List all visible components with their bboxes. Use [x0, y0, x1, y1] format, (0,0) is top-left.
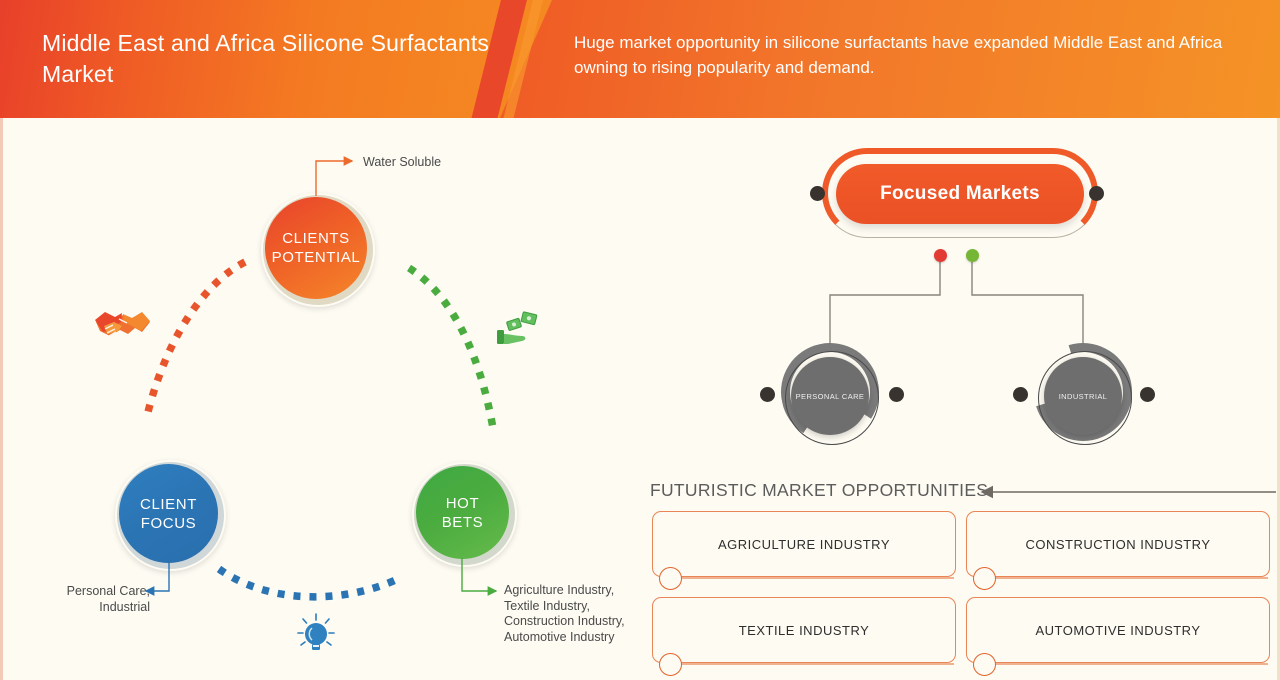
node-personal-care[interactable]: PERSONAL CARE	[791, 357, 869, 435]
node-client-focus-label: CLIENT FOCUS	[140, 495, 197, 533]
opportunity-knob-construction	[973, 567, 996, 590]
focused-markets-label: Focused Markets	[880, 183, 1040, 205]
page-title: Middle East and Africa Silicone Surfacta…	[42, 28, 512, 90]
opportunity-card-automotive[interactable]: AUTOMOTIVE INDUSTRY	[966, 597, 1270, 663]
money-in-hand-icon	[496, 306, 542, 352]
branch-dot-industrial	[966, 249, 979, 262]
personal-care-dot-right	[889, 387, 904, 402]
header-banner: Middle East and Africa Silicone Surfacta…	[0, 0, 1280, 118]
opportunity-card-construction[interactable]: CONSTRUCTION INDUSTRY	[966, 511, 1270, 577]
label-line-1: HOT	[446, 495, 479, 512]
opportunity-card-agriculture[interactable]: AGRICULTURE INDUSTRY	[652, 511, 956, 577]
opportunity-card-textile[interactable]: TEXTILE INDUSTRY	[652, 597, 956, 663]
opportunity-card-construction-label: CONSTRUCTION INDUSTRY	[1025, 537, 1210, 552]
node-hot-bets-label: HOT BETS	[442, 494, 484, 532]
header-subtitle: Huge market opportunity in silicone surf…	[574, 30, 1234, 80]
label-line-1: CLIENTS	[282, 230, 350, 247]
personal-care-dot-left	[760, 387, 775, 402]
node-clients-potential[interactable]: Water Soluble CLIENTS POTENTIAL	[265, 197, 367, 299]
callout-client-focus-line2: Industrial	[99, 600, 150, 614]
callout-hot-bets-line1: Agriculture Industry,	[504, 583, 614, 597]
personal-care-label: PERSONAL CARE	[796, 392, 865, 401]
node-industrial[interactable]: INDUSTRIAL	[1044, 357, 1122, 435]
industrial-dot-right	[1140, 387, 1155, 402]
callout-hot-bets-line3: Construction Industry,	[504, 614, 625, 628]
handshake-icon	[92, 298, 154, 348]
opportunity-card-textile-label: TEXTILE INDUSTRY	[739, 623, 870, 638]
lightbulb-icon	[294, 612, 338, 658]
opportunity-knob-agriculture	[659, 567, 682, 590]
label-line-1: CLIENT	[140, 496, 197, 513]
label-line-2: BETS	[442, 514, 484, 531]
industrial-label: INDUSTRIAL	[1059, 392, 1108, 401]
opportunity-card-automotive-label: AUTOMOTIVE INDUSTRY	[1035, 623, 1200, 638]
callout-hot-bets: Agriculture Industry, Textile Industry, …	[504, 583, 664, 645]
callout-hot-bets-line4: Automotive Industry	[504, 630, 614, 644]
opportunity-knob-automotive	[973, 653, 996, 676]
branch-dot-personal-care	[934, 249, 947, 262]
callout-hot-bets-line2: Textile Industry,	[504, 599, 590, 613]
label-line-2: FOCUS	[141, 515, 197, 532]
focused-markets-dot-left	[810, 186, 825, 201]
label-line-2: POTENTIAL	[272, 249, 361, 266]
node-hot-bets[interactable]: HOT BETS	[416, 466, 509, 559]
infographic-root: Middle East and Africa Silicone Surfacta…	[0, 0, 1280, 680]
node-clients-potential-label: Water Soluble CLIENTS POTENTIAL	[272, 229, 361, 267]
industrial-dot-left	[1013, 387, 1028, 402]
opportunity-knob-textile	[659, 653, 682, 676]
futuristic-section-title: FUTURISTIC MARKET OPPORTUNITIES	[650, 480, 988, 501]
focused-markets-button[interactable]: Focused Markets	[836, 164, 1084, 224]
node-client-focus[interactable]: CLIENT FOCUS	[119, 464, 218, 563]
opportunity-card-agriculture-label: AGRICULTURE INDUSTRY	[718, 537, 890, 552]
callout-client-focus: Personal Care, Industrial	[30, 583, 150, 615]
callout-water-soluble: Water Soluble	[363, 154, 441, 170]
focused-markets-dot-right	[1089, 186, 1104, 201]
callout-client-focus-line1: Personal Care,	[67, 584, 150, 598]
